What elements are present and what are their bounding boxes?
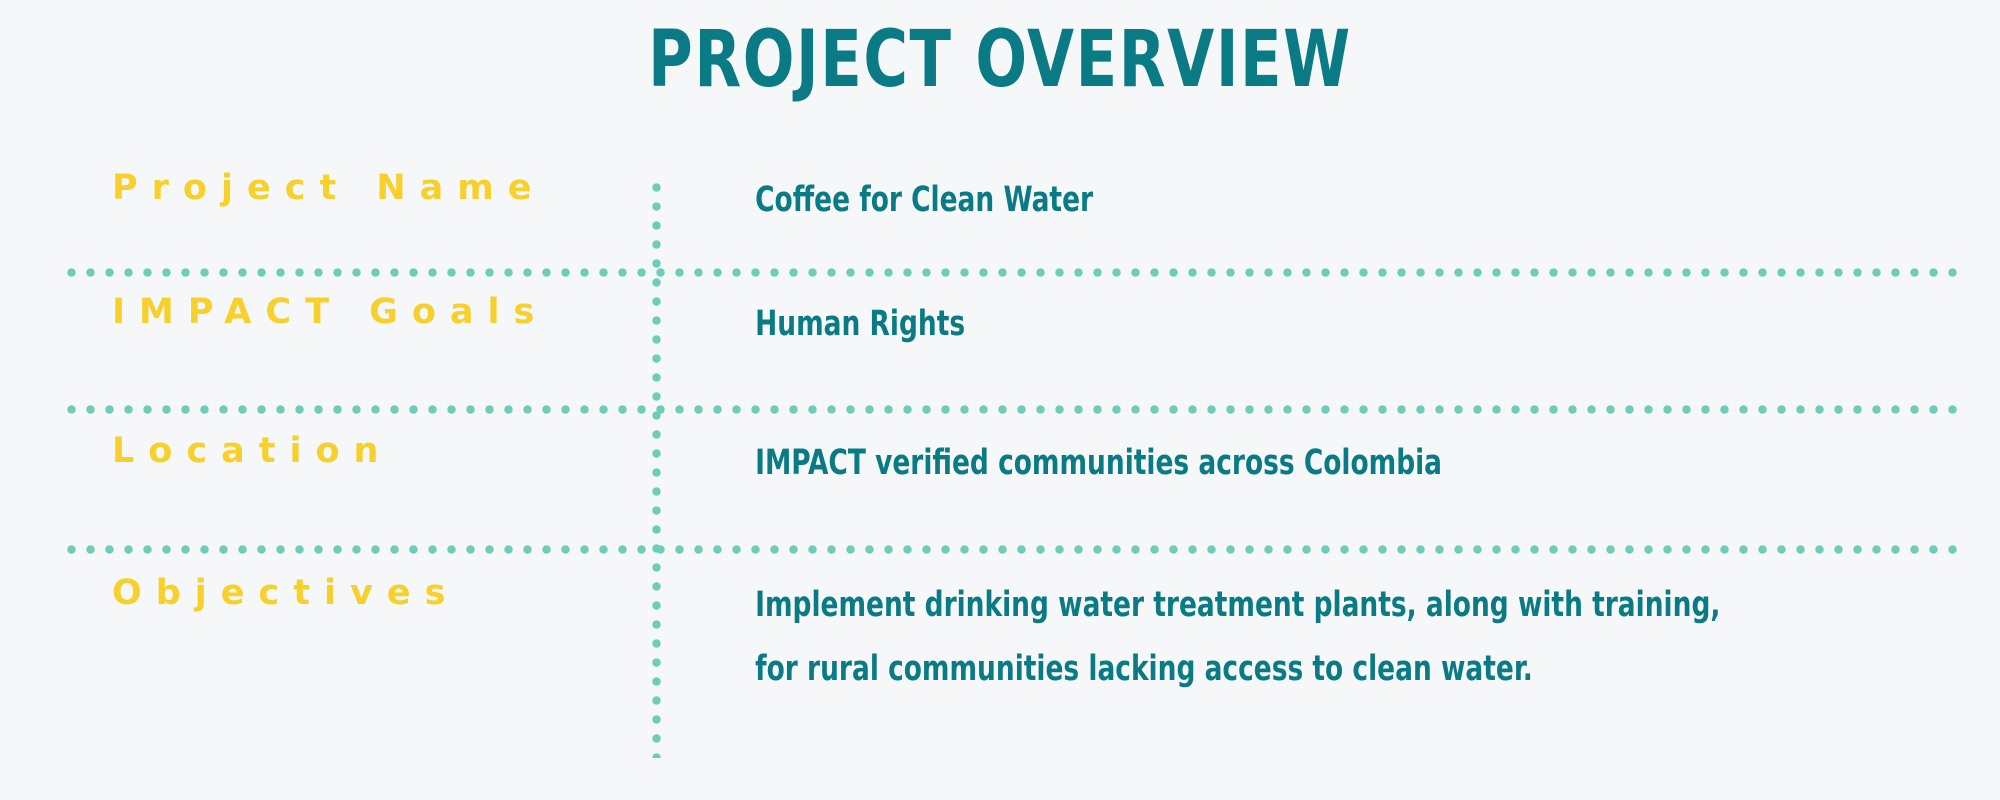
- row-label-impact-goals: IMPACT Goals: [0, 270, 656, 332]
- row-label-objectives: Objectives: [0, 547, 656, 613]
- row-value-project-name: Coffee for Clean Water: [656, 160, 1785, 232]
- row-label-location: Location: [0, 407, 656, 471]
- value-line: Coffee for Clean Water: [755, 168, 1785, 232]
- value-line: for rural communities lacking access to …: [755, 637, 1785, 701]
- row-value-impact-goals: Human Rights: [656, 270, 1785, 356]
- project-overview-slide: PROJECT OVERVIEW Project Name Coffee for…: [0, 0, 2000, 800]
- value-line: IMPACT verified communities across Colom…: [755, 431, 1785, 495]
- page-title: PROJECT OVERVIEW: [220, 14, 1780, 106]
- row-divider: [62, 545, 1957, 554]
- table-row: Project Name Coffee for Clean Water: [0, 160, 2000, 270]
- row-value-objectives: Implement drinking water treatment plant…: [656, 547, 1785, 701]
- row-label-project-name: Project Name: [0, 160, 656, 208]
- row-value-location: IMPACT verified communities across Colom…: [656, 407, 1785, 495]
- value-line: Human Rights: [755, 292, 1785, 356]
- value-line: Implement drinking water treatment plant…: [755, 573, 1785, 637]
- row-divider: [62, 405, 1957, 414]
- row-divider: [62, 268, 1957, 277]
- project-overview-table: Project Name Coffee for Clean Water IMPA…: [0, 160, 2000, 737]
- table-row: Location IMPACT verified communities acr…: [0, 407, 2000, 547]
- table-row: IMPACT Goals Human Rights: [0, 270, 2000, 407]
- table-row: Objectives Implement drinking water trea…: [0, 547, 2000, 737]
- column-divider: [652, 178, 661, 758]
